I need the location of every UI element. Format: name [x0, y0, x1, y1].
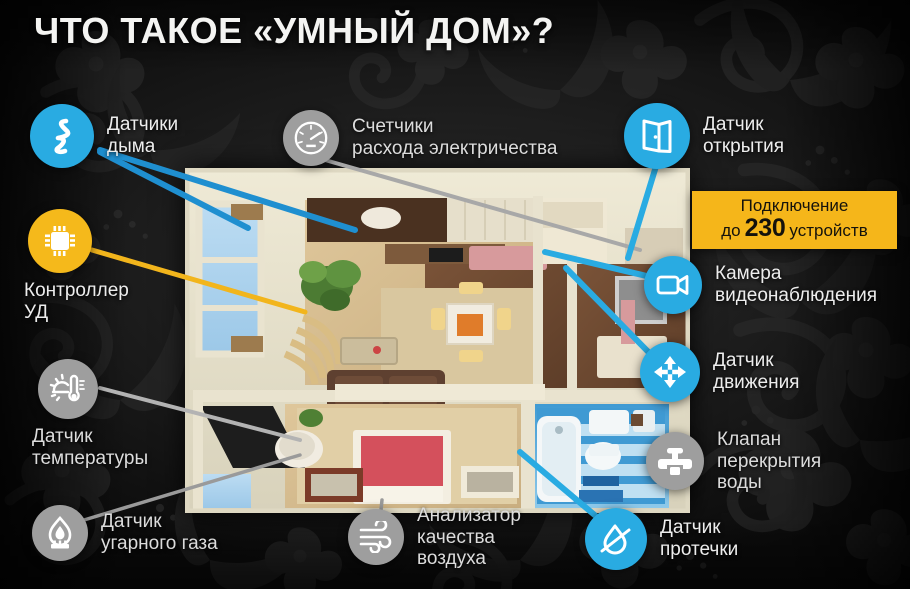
line-door: [628, 163, 657, 258]
node-water-valve[interactable]: Клапан перекрытия воды: [646, 429, 821, 494]
node-electricity-meter[interactable]: Счетчики расхода электричества: [283, 110, 557, 166]
node-smoke[interactable]: Датчики дыма: [30, 104, 178, 168]
node-motion-label: Датчик движения: [713, 350, 799, 393]
four-arrows-icon: [640, 342, 700, 402]
devices-callout: Подключение до 230 устройств: [692, 191, 897, 249]
water-leak-icon: [585, 508, 647, 570]
callout-prefix: до: [721, 222, 740, 241]
node-leak-label: Датчик протечки: [660, 517, 738, 560]
node-leak[interactable]: Датчик протечки: [585, 508, 738, 570]
node-smoke-label: Датчики дыма: [107, 114, 178, 157]
faucet-valve-icon: [646, 432, 704, 490]
node-carbon-monoxide[interactable]: Датчик угарного газа: [32, 505, 218, 561]
node-carbon-monoxide-label: Датчик угарного газа: [101, 511, 218, 554]
gas-flame-icon: [32, 505, 88, 561]
infographic-root: ЧТО ТАКОЕ «УМНЫЙ ДОМ»?: [0, 0, 910, 589]
node-controller-label: Контроллер УД: [24, 280, 129, 323]
node-temperature[interactable]: Датчик температуры: [32, 359, 148, 469]
line-meter: [325, 160, 640, 250]
gauge-icon: [283, 110, 339, 166]
open-door-icon: [624, 103, 690, 169]
node-controller[interactable]: Контроллер УД: [24, 209, 129, 323]
node-camera[interactable]: Камера видеонаблюдения: [644, 256, 877, 314]
node-electricity-meter-label: Счетчики расхода электричества: [352, 116, 557, 159]
callout-number: 230: [745, 215, 786, 243]
node-air-quality[interactable]: Анализатор качества воздуха: [348, 505, 521, 570]
video-camera-icon: [644, 256, 702, 314]
thermometer-sun-icon: [38, 359, 98, 419]
microchip-icon: [28, 209, 92, 273]
callout-suffix: устройств: [789, 222, 867, 241]
node-door-label: Датчик открытия: [703, 114, 784, 157]
smoke-icon: [30, 104, 94, 168]
node-camera-label: Камера видеонаблюдения: [715, 263, 877, 306]
node-door[interactable]: Датчик открытия: [624, 103, 784, 169]
node-water-valve-label: Клапан перекрытия воды: [717, 429, 821, 494]
node-air-quality-label: Анализатор качества воздуха: [417, 505, 521, 570]
node-motion[interactable]: Датчик движения: [640, 342, 799, 402]
callout-line1: Подключение: [741, 197, 849, 215]
node-temperature-label: Датчик температуры: [32, 426, 148, 469]
airflow-icon: [348, 509, 404, 565]
